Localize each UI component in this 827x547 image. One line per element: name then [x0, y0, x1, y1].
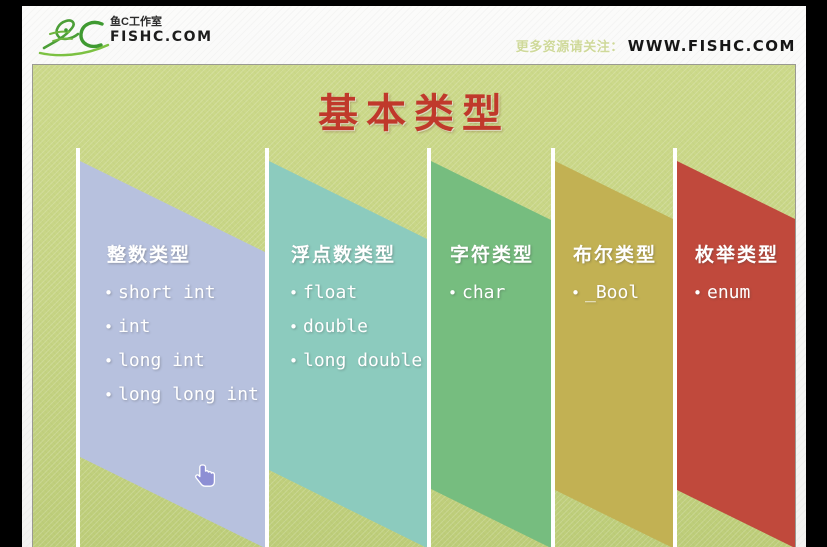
panel-integer-types[interactable]: 整数类型 •short int •int •long int •long lon… — [76, 148, 269, 547]
header-promo: 更多资源请关注： WWW.FISHC.COM — [516, 36, 796, 55]
bullet-icon: • — [448, 277, 462, 310]
list-item-label: float — [303, 282, 357, 303]
list-item-label: long int — [118, 350, 205, 371]
panel-content-integer: 整数类型 •short int •int •long int •long lon… — [80, 148, 265, 547]
panel-heading-enumeration: 枚举类型 — [695, 240, 779, 267]
panel-content-floating: 浮点数类型 •float •double •long double — [269, 148, 427, 547]
list-item: •char — [448, 276, 505, 310]
bullet-icon: • — [104, 277, 118, 310]
list-item: •long double — [289, 344, 422, 378]
bullet-icon: • — [104, 379, 118, 412]
type-panels-group: 整数类型 •short int •int •long int •long lon… — [33, 148, 796, 547]
fishc-calligraphy-logo-icon — [36, 12, 114, 60]
bullet-icon: • — [693, 277, 707, 310]
list-item-label: int — [118, 316, 151, 337]
panel-heading-integer: 整数类型 — [107, 240, 191, 267]
list-item-label: long long int — [118, 384, 259, 405]
slide-root: 鱼C工作室 FISHC.COM 更多资源请关注： WWW.FISHC.COM 基… — [0, 0, 827, 547]
page-title: 基本类型 — [33, 81, 795, 139]
brand-logo-text: 鱼C工作室 FISHC.COM — [110, 15, 240, 46]
bullet-icon: • — [104, 345, 118, 378]
bullet-icon: • — [289, 277, 303, 310]
list-item: •enum — [693, 276, 750, 310]
list-item: •double — [289, 310, 422, 344]
panel-floating-point-types[interactable]: 浮点数类型 •float •double •long double — [265, 148, 431, 547]
brand-name-en: FISHC.COM — [110, 29, 240, 46]
slide-board: 基本类型 整数类型 •short int •int •long int •lon… — [32, 64, 796, 547]
list-item: •long int — [104, 344, 259, 378]
list-item-label: long double — [303, 350, 422, 371]
panel-list-enumeration: •enum — [693, 276, 750, 310]
panel-list-character: •char — [448, 276, 505, 310]
list-item: •float — [289, 276, 422, 310]
list-item: •long long int — [104, 378, 259, 412]
panel-boolean-types[interactable]: 布尔类型 •_Bool — [551, 148, 677, 547]
list-item-label: double — [303, 316, 368, 337]
list-item: •short int — [104, 276, 259, 310]
bullet-icon: • — [289, 311, 303, 344]
bullet-icon: • — [571, 277, 585, 310]
panel-heading-character: 字符类型 — [450, 240, 534, 267]
bullet-icon: • — [289, 345, 303, 378]
panel-list-boolean: •_Bool — [571, 276, 639, 310]
panel-content-boolean: 布尔类型 •_Bool — [555, 148, 673, 547]
panel-content-enumeration: 枚举类型 •enum — [677, 148, 795, 547]
panel-heading-floating: 浮点数类型 — [291, 240, 396, 267]
panel-character-types[interactable]: 字符类型 •char — [427, 148, 555, 547]
list-item-label: enum — [707, 282, 750, 303]
panel-list-integer: •short int •int •long int •long long int — [104, 276, 259, 412]
panel-heading-boolean: 布尔类型 — [573, 240, 657, 267]
list-item-label: char — [462, 282, 505, 303]
promo-url[interactable]: WWW.FISHC.COM — [628, 37, 796, 55]
brand-logo[interactable]: 鱼C工作室 FISHC.COM — [36, 12, 236, 60]
list-item-label: _Bool — [585, 282, 639, 303]
promo-label: 更多资源请关注： — [516, 36, 624, 55]
bullet-icon: • — [104, 311, 118, 344]
slide-paper: 鱼C工作室 FISHC.COM 更多资源请关注： WWW.FISHC.COM 基… — [22, 6, 806, 547]
slide-header: 鱼C工作室 FISHC.COM 更多资源请关注： WWW.FISHC.COM — [22, 6, 806, 64]
list-item: •_Bool — [571, 276, 639, 310]
brand-name-cn: 鱼C工作室 — [110, 15, 240, 29]
panel-list-floating: •float •double •long double — [289, 276, 422, 378]
panel-content-character: 字符类型 •char — [431, 148, 551, 547]
list-item-label: short int — [118, 282, 216, 303]
panel-enumeration-types[interactable]: 枚举类型 •enum — [673, 148, 796, 547]
list-item: •int — [104, 310, 259, 344]
